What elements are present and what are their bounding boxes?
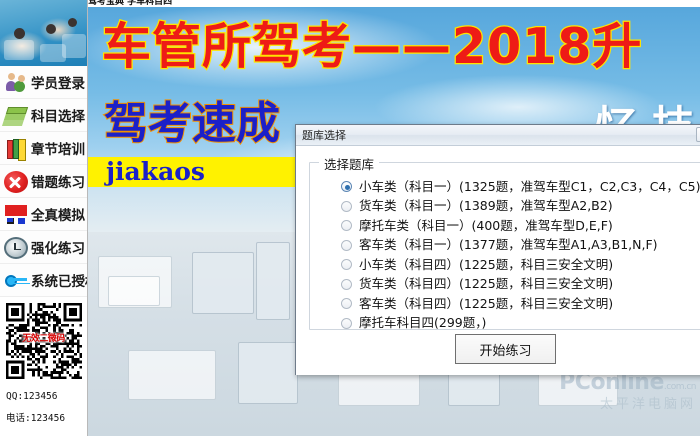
sidebar-item-label: 章节培训 [31, 138, 85, 158]
error-x-icon [4, 171, 28, 193]
close-icon[interactable]: ⊠ [696, 127, 700, 142]
sidebar-item-label: 系统已授权 [31, 270, 88, 290]
radio-icon[interactable] [341, 181, 352, 192]
radio-icon[interactable] [341, 201, 352, 212]
radio-icon[interactable] [341, 259, 352, 270]
dialog-title: 题库选择 [296, 127, 346, 143]
sidebar-item-license-status[interactable]: 系统已授权 [0, 264, 87, 297]
radio-option-bus-subject1[interactable]: 客车类（科目一）(1377题，准驾车型A1,A3,B1,N,F) [310, 236, 700, 256]
radio-option-label: 客车类（科目四）(1225题，科目三安全文明) [359, 297, 613, 311]
radio-option-label: 货车类（科目四）(1225题，科目三安全文明) [359, 277, 613, 291]
radio-option-label: 小车类（科目一）(1325题，准驾车型C1，C2,C3，C4，C5) [359, 180, 700, 194]
dialog-actions: 开始练习 [296, 334, 700, 364]
banner-title: 车管所驾考——2018升 [102, 19, 642, 75]
question-bank-group: 选择题库 小车类（科目一）(1325题，准驾车型C1，C2,C3，C4，C5) … [309, 162, 700, 330]
radio-icon[interactable] [341, 298, 352, 309]
radio-option-car-subject1[interactable]: 小车类（科目一）(1325题，准驾车型C1，C2,C3，C4，C5) [310, 177, 700, 197]
radio-option-truck-subject1[interactable]: 货车类（科目一）(1389题，准驾车型A2,B2) [310, 197, 700, 217]
dialog-body: 选择题库 小车类（科目一）(1325题，准驾车型C1，C2,C3，C4，C5) … [296, 146, 700, 375]
clock-icon [4, 237, 28, 259]
radio-icon[interactable] [341, 220, 352, 231]
radio-option-label: 客车类（科目一）(1377题，准驾车型A1,A3,B1,N,F) [359, 238, 658, 252]
radio-option-motorcycle-subject4[interactable]: 摩托车科目四(299题，) [310, 314, 700, 334]
sidebar-item-label: 全真模拟 [31, 204, 85, 224]
qr-code-image [6, 303, 82, 379]
radio-icon[interactable] [341, 318, 352, 329]
key-icon [4, 268, 28, 292]
sidebar-item-student-login[interactable]: 学员登录 [0, 66, 87, 99]
radio-option-label: 小车类（科目四）(1225题，科目三安全文明) [359, 258, 613, 272]
application-window: 学员登录 科目选择 章节培训 错题练习 全真模拟 强化练习 系统已授权 [0, 0, 700, 436]
radio-option-motorcycle-subject1[interactable]: 摩托车类（科目一）(400题，准驾车型D,E,F) [310, 216, 700, 236]
banner-subtitle: 驾考速成 [104, 99, 280, 149]
clipped-window-caption: 驾考宝典 学车科目四 [88, 0, 700, 7]
sidebar-item-label: 错题练习 [31, 171, 85, 191]
stack-icon [4, 103, 28, 127]
sidebar-item-subject-select[interactable]: 科目选择 [0, 99, 87, 132]
banner-pinyin-text: jiakaos [106, 158, 205, 186]
qr-code-block: 无效二微码 [6, 303, 82, 379]
radio-option-truck-subject4[interactable]: 货车类（科目四）(1225题，科目三安全文明) [310, 275, 700, 295]
radio-option-label: 摩托车类（科目一）(400题，准驾车型D,E,F) [359, 219, 613, 233]
contact-qq: QQ:123456 [0, 391, 87, 402]
group-legend: 选择题库 [319, 154, 379, 173]
left-sidebar: 学员登录 科目选择 章节培训 错题练习 全真模拟 强化练习 系统已授权 [0, 0, 88, 436]
sidebar-item-label: 学员登录 [31, 72, 85, 92]
monitor-icon [4, 202, 28, 226]
question-bank-dialog: 题库选择 ⊠ 选择题库 小车类（科目一）(1325题，准驾车型C1，C2,C3，… [295, 124, 700, 375]
sidebar-item-chapter-training[interactable]: 章节培训 [0, 132, 87, 165]
books-icon [4, 136, 28, 160]
contact-phone: 电话:123456 [0, 410, 87, 424]
main-content-area: 驾考宝典 学车科目四 车管所驾考——2018升 驾考速成 忆 技 jiakaos… [88, 0, 700, 436]
radio-option-label: 货车类（科目一）(1389题，准驾车型A2,B2) [359, 199, 613, 213]
sidebar-item-label: 强化练习 [31, 237, 85, 257]
sidebar-item-full-simulation[interactable]: 全真模拟 [0, 198, 87, 231]
users-icon [4, 70, 28, 94]
radio-option-label: 摩托车科目四(299题，) [359, 316, 486, 330]
radio-icon[interactable] [341, 279, 352, 290]
dialog-titlebar[interactable]: 题库选择 ⊠ [296, 125, 700, 146]
radio-icon[interactable] [341, 240, 352, 251]
start-practice-button[interactable]: 开始练习 [455, 334, 556, 364]
sidebar-item-intensive-practice[interactable]: 强化练习 [0, 231, 87, 264]
radio-option-car-subject4[interactable]: 小车类（科目四）(1225题，科目三安全文明) [310, 255, 700, 275]
sidebar-item-label: 科目选择 [31, 105, 85, 125]
sidebar-item-wrong-questions[interactable]: 错题练习 [0, 165, 87, 198]
radio-option-bus-subject4[interactable]: 客车类（科目四）(1225题，科目三安全文明) [310, 294, 700, 314]
classroom-photo [0, 0, 88, 66]
clipped-caption-text: 驾考宝典 学车科目四 [88, 0, 700, 7]
